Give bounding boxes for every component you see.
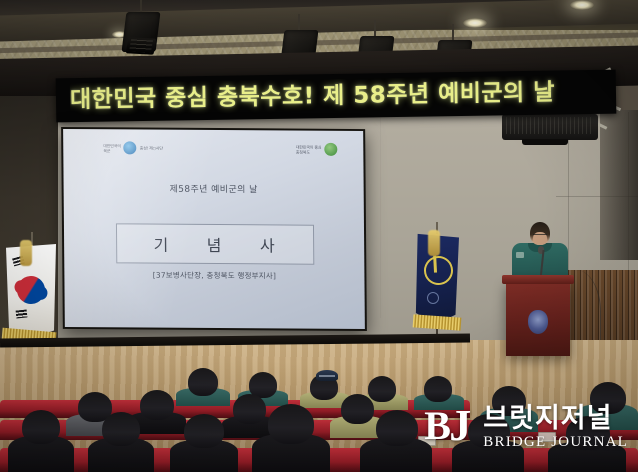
military-cap-icon xyxy=(316,370,338,381)
speaker-name-patch xyxy=(516,252,524,258)
unit-crest-icon xyxy=(421,253,455,287)
flag-tassel xyxy=(428,230,440,256)
army-emblem-icon xyxy=(124,141,137,154)
audience-head xyxy=(376,410,418,446)
audience-head xyxy=(368,376,396,402)
slide-logo-left-text: 대한민국의 육군 xyxy=(103,143,120,153)
headline-char-3: 사 xyxy=(260,232,277,256)
unit-crest-icon xyxy=(528,310,548,334)
led-banner: 대한민국 중심 충북수호! 제 58주년 예비군의 날 xyxy=(56,70,617,123)
slide-subtitle: [37보병사단장, 충청북도 행정부지사] xyxy=(64,269,364,282)
headline-char-1: 기 xyxy=(153,232,170,256)
slide-logo-right-text: 대한민국의 중심 충청북도 xyxy=(296,144,322,154)
audience-head xyxy=(492,386,526,416)
slide-surface: 대한민국의 육군 충성! 제○사단 대한민국의 중심 충청북도 제58주년 예비… xyxy=(63,129,365,329)
photo-canvas: 대한민국 중심 충북수호! 제 58주년 예비군의 날 대한민국의 육군 충성!… xyxy=(0,0,638,472)
trigram-icon xyxy=(16,309,28,318)
slide-headline-box: 기 념 사 xyxy=(116,223,314,264)
seat-number-plate xyxy=(538,432,556,442)
audience-head xyxy=(590,382,626,414)
banner-text: 대한민국 중심 충북수호! 제 58주년 예비군의 날 xyxy=(70,75,615,118)
headline-char-2: 념 xyxy=(207,232,224,256)
audience-head xyxy=(102,412,140,446)
audience-head xyxy=(140,390,174,420)
slide-logo-right: 대한민국의 중심 충청북도 xyxy=(296,143,338,156)
slide-logo-left-caption: 충성! 제○사단 xyxy=(140,145,163,150)
audience-head xyxy=(341,394,374,424)
unit-secondary-icon xyxy=(427,292,439,304)
slide-logo-left: 대한민국의 육군 충성! 제○사단 xyxy=(103,141,163,154)
downlight-icon xyxy=(570,0,594,10)
flag-tassel xyxy=(20,240,32,266)
audience-head xyxy=(566,416,610,450)
slide-headline-text: 기 념 사 xyxy=(117,224,313,263)
chungbuk-emblem-icon xyxy=(324,143,337,156)
audience-head xyxy=(22,410,60,444)
audience-head xyxy=(184,414,224,448)
audience-head xyxy=(468,414,510,448)
downlight-icon xyxy=(463,18,487,28)
audience-head xyxy=(233,394,266,424)
audience-head xyxy=(188,368,218,396)
taeguk-symbol-icon xyxy=(12,271,50,309)
audience-head xyxy=(424,376,452,402)
wall-seam xyxy=(380,118,381,318)
audience-head xyxy=(268,404,314,444)
projection-screen: 대한민국의 육군 충성! 제○사단 대한민국의 중심 충청북도 제58주년 예비… xyxy=(61,127,367,331)
glasses-icon xyxy=(533,234,547,239)
slide-title: 제58주년 예비군의 날 xyxy=(64,181,364,196)
